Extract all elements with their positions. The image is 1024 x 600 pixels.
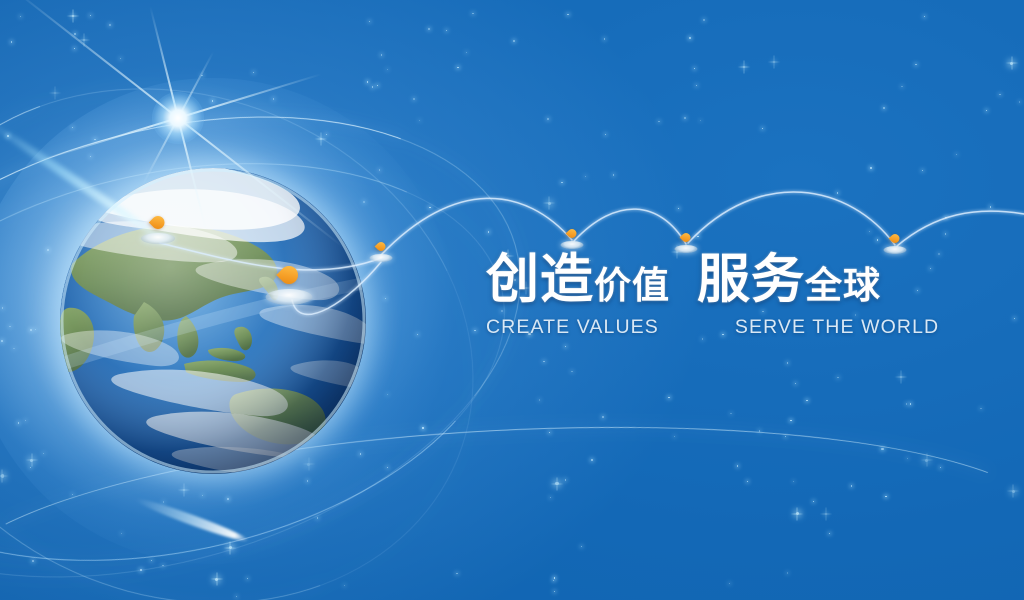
star-dot — [94, 139, 95, 140]
arc-route-3-to-route-4 — [688, 192, 895, 245]
star-dot — [762, 128, 763, 129]
pin-route-3-marker-icon — [680, 231, 693, 244]
star-dot — [417, 334, 418, 335]
star-dot — [945, 233, 946, 234]
star-dot — [83, 39, 85, 41]
star-dot — [689, 37, 690, 38]
star-dot — [474, 330, 475, 331]
slogan-zh-world: 全球 — [805, 266, 881, 308]
arc-route-2-to-route-3 — [574, 209, 686, 244]
star-dot — [759, 430, 760, 431]
star-dot — [561, 182, 562, 183]
star-dot — [385, 298, 386, 299]
star-dot — [215, 578, 218, 581]
star-dot — [980, 408, 981, 409]
star-dot — [428, 28, 430, 30]
star-dot — [906, 403, 907, 404]
star-dot — [163, 501, 164, 502]
star-dot — [747, 481, 748, 482]
star-dot — [703, 19, 704, 20]
star-dot — [567, 14, 568, 15]
star-dot — [565, 479, 566, 480]
star-dot — [372, 86, 373, 87]
star-dot — [419, 120, 420, 121]
global-business-hero-banner: 创造 价值 服务 全球 CREATE VALUES SERVE THE WORL… — [0, 0, 1024, 600]
star-dot — [539, 399, 540, 400]
star-dot — [1010, 62, 1013, 65]
earth-globe-icon — [60, 168, 366, 474]
star-dot — [72, 15, 74, 17]
star-dot — [825, 513, 827, 515]
star-dot — [18, 422, 19, 423]
slogan-chinese-line: 创造 价值 服务 全球 — [486, 252, 916, 308]
star-dot — [604, 38, 605, 39]
flare-ray-diagonal-2 — [142, 51, 214, 184]
star-dot — [25, 420, 26, 421]
star-dot — [30, 467, 31, 468]
star-dot — [54, 92, 56, 94]
star-dot — [72, 494, 73, 495]
star-dot — [369, 21, 370, 22]
star-dot — [307, 480, 308, 481]
star-dot — [466, 52, 467, 53]
star-dot — [247, 578, 248, 579]
star-dot — [813, 501, 814, 502]
star-dot — [729, 583, 730, 584]
star-dot — [694, 68, 695, 69]
pin-route-2-marker-icon — [566, 227, 579, 240]
star-dot — [229, 546, 232, 549]
slogan-en-create-values: CREATE VALUES — [486, 316, 659, 338]
star-dot — [1, 340, 3, 342]
star-dot — [940, 467, 941, 468]
star-dot — [2, 307, 3, 308]
slogan-zh-serve: 服务 — [697, 252, 805, 308]
star-dot — [47, 249, 49, 251]
star-dot — [32, 560, 34, 562]
comet-streak-icon — [134, 495, 250, 545]
star-dot — [602, 416, 603, 417]
pin-route-2-base — [561, 241, 584, 249]
star-dot — [938, 253, 940, 255]
star-dot — [162, 565, 163, 566]
star-dot — [885, 496, 886, 497]
slogan-zh-values: 价值 — [594, 266, 670, 308]
star-dot — [581, 546, 582, 547]
star-dot — [11, 41, 12, 42]
star-dot — [488, 231, 489, 232]
star-dot — [151, 560, 152, 561]
star-dot — [120, 58, 121, 59]
star-dot — [140, 569, 141, 570]
star-dot — [212, 100, 213, 101]
star-dot — [658, 121, 659, 122]
slogan-zh-create: 创造 — [486, 252, 594, 308]
star-dot — [915, 64, 916, 65]
star-dot — [273, 98, 274, 99]
flare-ray-horizontal — [34, 73, 322, 163]
star-dot — [907, 458, 908, 459]
star-dot — [910, 403, 911, 404]
star-dot — [956, 154, 957, 155]
star-dot — [367, 81, 368, 82]
star-dot — [591, 459, 592, 460]
star-dot — [743, 66, 745, 68]
star-dot — [837, 377, 838, 378]
star-dot — [881, 448, 883, 450]
star-dot — [999, 94, 1000, 95]
star-dot — [7, 135, 9, 137]
pin-route-1-base — [370, 254, 393, 262]
star-dot — [990, 206, 991, 207]
star-dot — [1012, 490, 1015, 493]
star-dot — [456, 573, 457, 574]
star-dot — [787, 362, 788, 363]
star-dot — [702, 338, 703, 339]
star-dot — [9, 326, 10, 327]
star-dot — [851, 485, 852, 486]
star-dot — [917, 290, 918, 291]
star-dot — [422, 427, 423, 428]
star-dot — [387, 69, 388, 70]
star-dot — [922, 170, 923, 171]
star-dot — [317, 517, 318, 518]
star-dot — [413, 98, 415, 100]
star-dot — [74, 33, 75, 34]
star-dot — [381, 54, 382, 55]
star-dot — [737, 465, 738, 466]
star-dot — [253, 72, 254, 73]
star-dot — [883, 107, 885, 109]
star-dot — [877, 239, 878, 240]
star-dot — [550, 497, 551, 498]
star-dot — [387, 467, 388, 468]
star-dot — [924, 16, 925, 17]
star-dot — [90, 156, 91, 157]
star-dot — [1, 474, 4, 477]
pin-route-4-marker-icon — [889, 232, 902, 245]
star-dot — [90, 15, 91, 16]
arc-route-1-to-route-2 — [381, 198, 572, 255]
star-dot — [945, 217, 946, 218]
star-dot — [555, 482, 558, 485]
star-dot — [43, 453, 44, 454]
star-dot — [74, 48, 75, 49]
flare-core — [152, 92, 204, 144]
star-dot — [986, 110, 987, 111]
star-dot — [787, 572, 788, 573]
star-dot — [678, 208, 679, 209]
star-dot — [236, 596, 237, 597]
star-dot — [585, 176, 586, 177]
star-dot — [13, 348, 14, 349]
star-dot — [30, 459, 33, 462]
star-dot — [201, 75, 202, 76]
star-dot — [785, 436, 786, 437]
star-dot — [326, 134, 327, 135]
star-dot — [806, 400, 807, 401]
star-dot — [900, 376, 902, 378]
star-dot — [829, 533, 830, 534]
star-dot — [429, 207, 430, 208]
star-dot — [472, 13, 473, 14]
slogan-block: 创造 价值 服务 全球 CREATE VALUES SERVE THE WORL… — [486, 252, 916, 338]
globe-container — [60, 168, 366, 474]
pin-route-2 — [561, 229, 584, 252]
star-dot — [700, 120, 701, 121]
star-dot — [379, 169, 380, 170]
star-dot — [549, 432, 550, 433]
star-dot — [35, 329, 36, 330]
star-dot — [72, 127, 73, 128]
star-dot — [1019, 101, 1020, 102]
star-dot — [613, 174, 614, 175]
star-dot — [773, 61, 775, 63]
star-dot — [696, 85, 697, 86]
star-dot — [320, 138, 322, 140]
star-dot — [605, 134, 606, 135]
star-dot — [109, 24, 111, 26]
star-dot — [344, 585, 345, 586]
star-dot — [121, 533, 122, 534]
star-dot — [837, 192, 838, 193]
slogan-english-line: CREATE VALUES SERVE THE WORLD — [486, 316, 916, 338]
star-dot — [387, 394, 388, 395]
arc-route-4-tail — [897, 211, 1024, 246]
pin-route-1 — [370, 242, 393, 265]
star-dot — [730, 413, 731, 414]
star-dot — [227, 498, 229, 500]
star-dot — [553, 580, 554, 581]
star-dot — [795, 383, 796, 384]
star-dot — [30, 329, 32, 331]
star-dot — [668, 397, 669, 398]
star-dot — [793, 481, 794, 482]
star-dot — [870, 167, 871, 168]
star-dot — [790, 420, 791, 421]
star-dot — [930, 268, 931, 269]
star-dot — [571, 371, 572, 372]
star-dot — [547, 118, 549, 120]
star-dot — [183, 489, 185, 491]
star-dot — [565, 346, 566, 347]
star-dot — [1014, 318, 1015, 319]
star-dot — [513, 40, 515, 42]
star-dot — [543, 361, 544, 362]
star-dot — [554, 577, 555, 578]
star-dot — [554, 591, 555, 592]
star-dot — [869, 231, 870, 232]
star-dot — [925, 459, 928, 462]
star-dot — [548, 202, 551, 205]
star-dot — [377, 85, 378, 86]
star-dot — [457, 67, 458, 68]
star-dot — [697, 236, 698, 237]
star-dot — [446, 30, 447, 31]
slogan-en-serve-world: SERVE THE WORLD — [735, 316, 939, 338]
star-dot — [20, 16, 21, 17]
star-dot — [202, 495, 203, 496]
pin-route-1-marker-icon — [375, 240, 388, 253]
star-dot — [901, 86, 902, 87]
star-dot — [674, 436, 675, 437]
star-dot — [684, 117, 686, 119]
star-dot — [796, 512, 799, 515]
